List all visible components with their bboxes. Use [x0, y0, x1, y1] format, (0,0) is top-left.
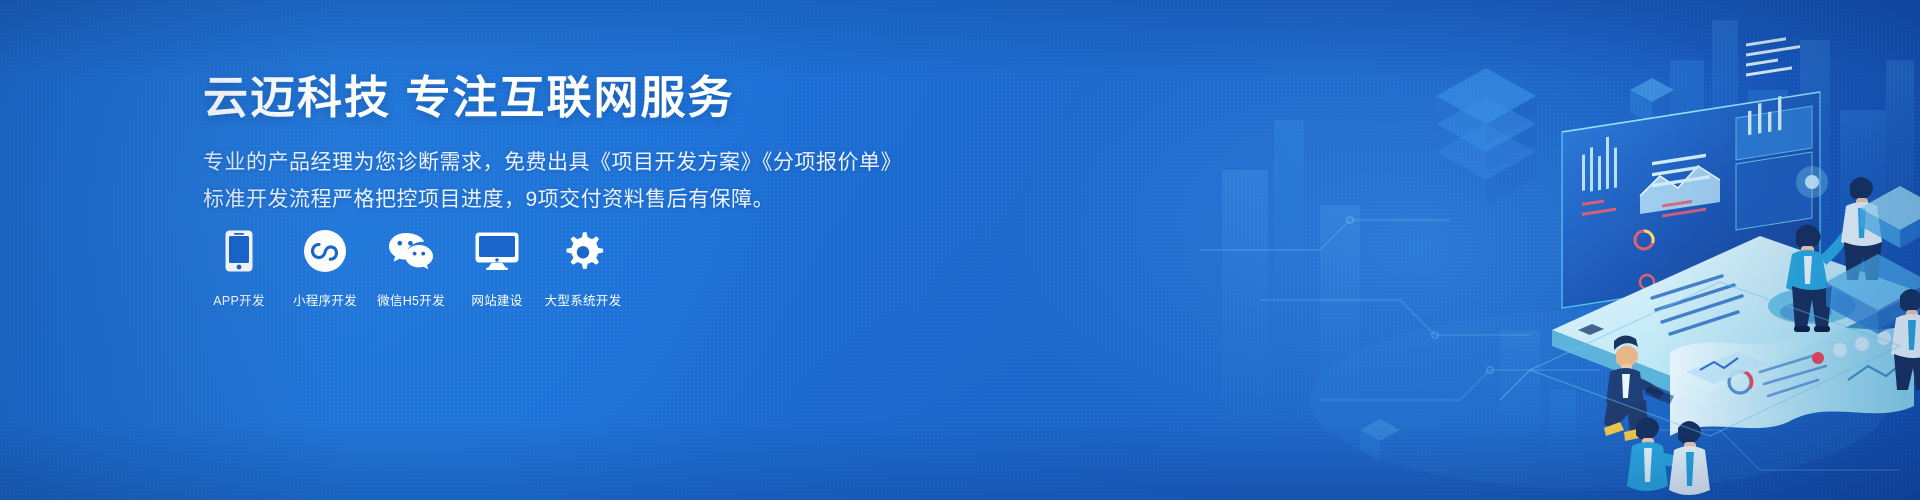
service-item-large-system[interactable]: 大型系统开发: [547, 228, 619, 309]
monitor-icon: [474, 228, 520, 274]
isometric-tech-illustration: [1200, 0, 1920, 500]
service-list: APP开发 小程序开发: [203, 228, 619, 309]
mini-program-icon: [302, 228, 348, 274]
page-title: 云迈科技 专注互联网服务: [203, 75, 735, 120]
hero-copy: 云迈科技 专注互联网服务 专业的产品经理为您诊断需求，免费出具《项目开发方案》《…: [203, 0, 903, 500]
service-label: 小程序开发: [293, 290, 357, 309]
service-item-website[interactable]: 网站建设: [461, 228, 533, 309]
gear-icon: [560, 228, 606, 274]
subtitle-line-2: 标准开发流程严格把控项目进度，9项交付资料售后有保障。: [203, 183, 774, 213]
service-label: 微信H5开发: [377, 290, 445, 309]
mobile-phone-icon: [216, 228, 262, 274]
service-item-mini-program[interactable]: 小程序开发: [289, 228, 361, 309]
wechat-icon: [388, 228, 434, 274]
subtitle-line-1: 专业的产品经理为您诊断需求，免费出具《项目开发方案》《分项报价单》: [203, 146, 902, 176]
server-stack: [1436, 68, 1536, 206]
service-label: APP开发: [213, 290, 265, 309]
illustration-svg: [1200, 0, 1920, 500]
service-item-wechat-h5[interactable]: 微信H5开发: [375, 228, 447, 309]
touch-glow: [1796, 166, 1828, 198]
service-item-app[interactable]: APP开发: [203, 228, 275, 309]
service-label: 网站建设: [471, 290, 522, 309]
hero-banner: 云迈科技 专注互联网服务 专业的产品经理为您诊断需求，免费出具《项目开发方案》《…: [0, 0, 1920, 500]
service-label: 大型系统开发: [545, 290, 622, 309]
